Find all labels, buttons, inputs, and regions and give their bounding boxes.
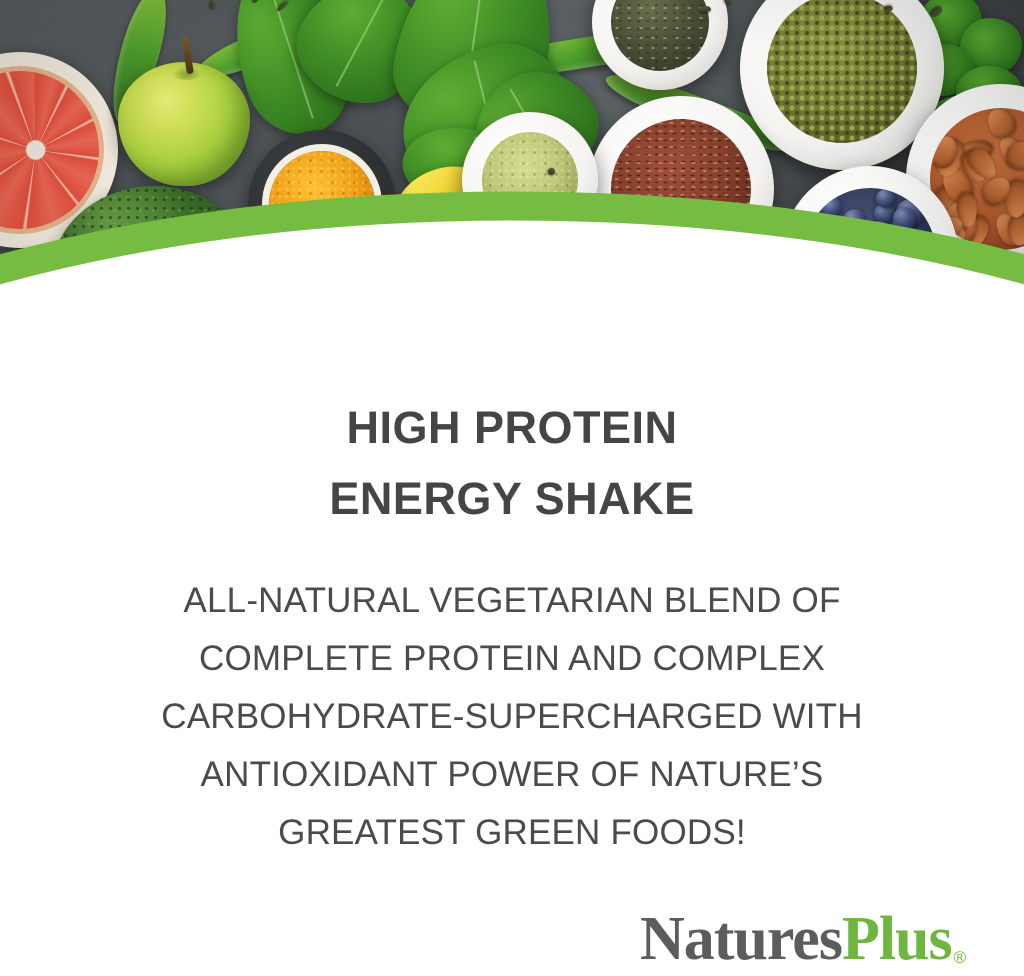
description-line-1: ALL-NATURAL VEGETARIAN BLEND OF bbox=[0, 572, 1024, 630]
brand-name-plus: Plus bbox=[842, 908, 952, 970]
product-description: ALL-NATURAL VEGETARIAN BLEND OF COMPLETE… bbox=[0, 572, 1024, 862]
brand-logo: Natures Plus ® bbox=[640, 902, 1006, 970]
poster-content: HIGH PROTEIN ENERGY SHAKE ALL-NATURAL VE… bbox=[0, 0, 1024, 976]
brand-name-natures: Natures bbox=[640, 908, 842, 970]
description-line-5: GREATEST GREEN FOODS! bbox=[0, 804, 1024, 862]
product-claim-poster: HIGH PROTEIN ENERGY SHAKE ALL-NATURAL VE… bbox=[0, 0, 1024, 976]
description-line-3: CARBOHYDRATE-SUPERCHARGED WITH bbox=[0, 688, 1024, 746]
headline-line-2: ENERGY SHAKE bbox=[0, 463, 1024, 534]
headline-line-1: HIGH PROTEIN bbox=[0, 392, 1024, 463]
page-title: HIGH PROTEIN ENERGY SHAKE bbox=[0, 392, 1024, 534]
description-line-4: ANTIOXIDANT POWER OF NATURE’S bbox=[0, 746, 1024, 804]
description-line-2: COMPLETE PROTEIN AND COMPLEX bbox=[0, 630, 1024, 688]
registered-trademark-icon: ® bbox=[954, 949, 966, 966]
